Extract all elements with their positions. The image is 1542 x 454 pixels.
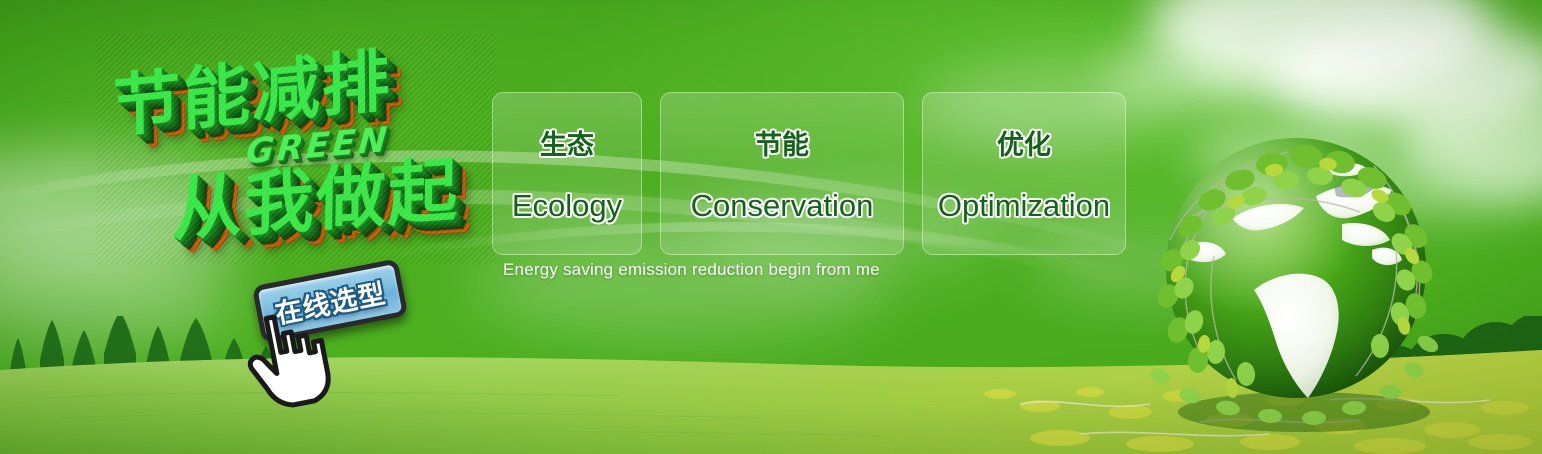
banner-tagline: Energy saving emission reduction begin f… [503, 260, 880, 280]
eco-banner: 节能减排 GREEN 从我做起 在线选型 生态 Ecology 节能 Conse… [0, 0, 1542, 454]
feature-card-ecology[interactable]: 生态 Ecology [492, 92, 642, 255]
feature-card-en-label: Ecology [512, 188, 622, 224]
pointing-hand-icon [235, 299, 345, 419]
feature-card-cn-label: 节能 [755, 123, 809, 162]
feature-card-conservation[interactable]: 节能 Conservation [660, 92, 904, 255]
feature-card-en-label: Conservation [691, 188, 874, 224]
headline-logo: 节能减排 GREEN 从我做起 [96, 34, 496, 264]
feature-card-en-label: Optimization [938, 188, 1110, 224]
feature-card-list: 生态 Ecology 节能 Conservation 优化 Optimizati… [492, 92, 1126, 255]
feature-card-cn-label: 生态 [540, 123, 594, 162]
feature-card-cn-label: 优化 [997, 123, 1051, 162]
feature-card-optimization[interactable]: 优化 Optimization [922, 92, 1126, 255]
